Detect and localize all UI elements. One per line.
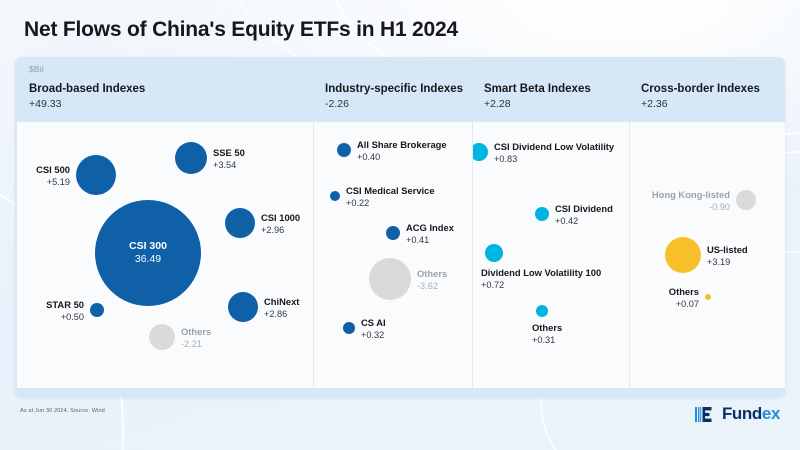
bubble-label: US-listed+3.19 [707,244,748,268]
bubble-label-name: CSI Dividend Low Volatility [494,141,614,153]
bubble-label-value: +2.86 [264,308,299,320]
bubble-label-value: -2.21 [181,338,211,350]
bubble[interactable] [386,226,400,240]
bubble-label-value: +3.54 [213,159,245,171]
bubble-label-name: Hong Kong-listed [652,189,730,201]
group-header-1: Broad-based Indexes+49.33 [29,83,145,110]
bubble[interactable] [705,294,711,300]
bubble-label: CSI 500+5.19 [36,164,70,188]
bubble-label: ChiNext+2.86 [264,296,299,320]
bubble-label: CSI 1000+2.96 [261,212,300,236]
bubble-label-name: CSI Medical Service [346,185,435,197]
bubble-label-name: ChiNext [264,296,299,308]
bubble[interactable] [149,324,175,350]
bubble-label-value: +0.40 [357,151,447,163]
bubble-label-name: CS AI [361,317,386,329]
bubble[interactable] [472,143,488,161]
group-total: +49.33 [29,98,145,110]
bubble-label-value: +0.32 [361,329,386,341]
bubble-label: CSI Dividend+0.42 [555,203,613,227]
bubble-label-name: STAR 50 [46,299,84,311]
group-header-4: Cross-border Indexes+2.36 [641,83,760,110]
unit-label: $Bil [29,64,44,74]
bubble-label: ACG Index+0.41 [406,222,454,246]
bubble-label-name: Others [669,286,699,298]
plot-area-4: Hong Kong-listed-0.90US-listed+3.19Other… [629,122,785,388]
bubble-label-name: US-listed [707,244,748,256]
bubble-label: CSI 30036.49 [95,240,201,266]
bubble[interactable] [175,142,207,174]
bubble-label-value: +0.42 [555,215,613,227]
bubble[interactable] [343,322,355,334]
infographic-root: Net Flows of China's Equity ETFs in H1 2… [0,0,800,450]
group-total: -2.26 [325,98,463,110]
page-title: Net Flows of China's Equity ETFs in H1 2… [24,18,458,42]
bubble-label-value: +3.19 [707,256,748,268]
bubble-label: Others-3.62 [417,268,447,292]
bubble[interactable] [536,305,548,317]
bubble-label: Hong Kong-listed-0.90 [652,189,730,213]
striped-e-icon [695,406,719,423]
bubble[interactable] [535,207,549,221]
bubble[interactable] [228,292,258,322]
bubble-label-name: CSI 1000 [261,212,300,224]
group-name: Broad-based Indexes [29,83,145,95]
bubble-label-value: +2.96 [261,224,300,236]
plot-area-2: All Share Brokerage+0.40CSI Medical Serv… [313,122,473,388]
bubble[interactable] [337,143,351,157]
bubble-label-value: +0.72 [481,279,601,291]
bubble-label: Others+0.31 [532,322,562,346]
group-header-3: Smart Beta Indexes+2.28 [484,83,591,110]
source-footnote: As at Jun 30 2024. Source: Wind [20,408,105,414]
bubble-label-name: Dividend Low Volatility 100 [481,267,601,279]
bubble-label-name: Others [417,268,447,280]
bubble-label-value: +5.19 [36,176,70,188]
bubble-label-name: SSE 50 [213,147,245,159]
plot-area-3: CSI Dividend Low Volatility+0.83CSI Divi… [472,122,630,388]
group-total: +2.28 [484,98,591,110]
bubble-label: CSI Medical Service+0.22 [346,185,435,209]
logo-word-main: Fund [722,404,762,423]
bubble[interactable] [225,208,255,238]
bubble[interactable] [330,191,340,201]
bubble[interactable] [369,258,411,300]
bubble-label: Others-2.21 [181,326,211,350]
plot-area-1: CSI 500+5.19SSE 50+3.54CSI 30036.49CSI 1… [17,122,313,388]
bubble[interactable] [665,237,701,273]
bubble-label-name: ACG Index [406,222,454,234]
bubble-label-name: CSI Dividend [555,203,613,215]
bubble-label-value: +0.83 [494,153,614,165]
logo-wordmark: Fundex [722,404,780,424]
bubble[interactable] [485,244,503,262]
bubble-label: SSE 50+3.54 [213,147,245,171]
logo-word-accent: ex [762,404,780,423]
bubble-label-name: CSI 300 [95,240,201,253]
group-name: Industry-specific Indexes [325,83,463,95]
bubble-label-value: -0.90 [652,201,730,213]
bubble-label-value: +0.50 [46,311,84,323]
bubble-label-value: +0.22 [346,197,435,209]
group-header-2: Industry-specific Indexes-2.26 [325,83,463,110]
bubble-label-value: +0.41 [406,234,454,246]
bubble-label-value: 36.49 [95,253,201,266]
bubble-label-name: Others [181,326,211,338]
bubble-label: CS AI+0.32 [361,317,386,341]
group-name: Smart Beta Indexes [484,83,591,95]
chart-panel: $Bil Broad-based Indexes+49.33Industry-s… [15,57,785,397]
bubble-label-name: CSI 500 [36,164,70,176]
bubble-label: STAR 50+0.50 [46,299,84,323]
group-name: Cross-border Indexes [641,83,760,95]
bubble-label: All Share Brokerage+0.40 [357,139,447,163]
bubble[interactable] [736,190,756,210]
bubble-label-value: +0.07 [669,298,699,310]
group-total: +2.36 [641,98,760,110]
bubble-label-value: -3.62 [417,280,447,292]
bubble-label: CSI Dividend Low Volatility+0.83 [494,141,614,165]
bubble-label-name: All Share Brokerage [357,139,447,151]
bubble-label: Dividend Low Volatility 100+0.72 [481,267,601,291]
brand-logo: Fundex [695,404,780,424]
bubble-label-name: Others [532,322,562,334]
bubble-label-value: +0.31 [532,334,562,346]
bubble[interactable] [90,303,104,317]
bubble-label: Others+0.07 [669,286,699,310]
bubble[interactable] [76,155,116,195]
